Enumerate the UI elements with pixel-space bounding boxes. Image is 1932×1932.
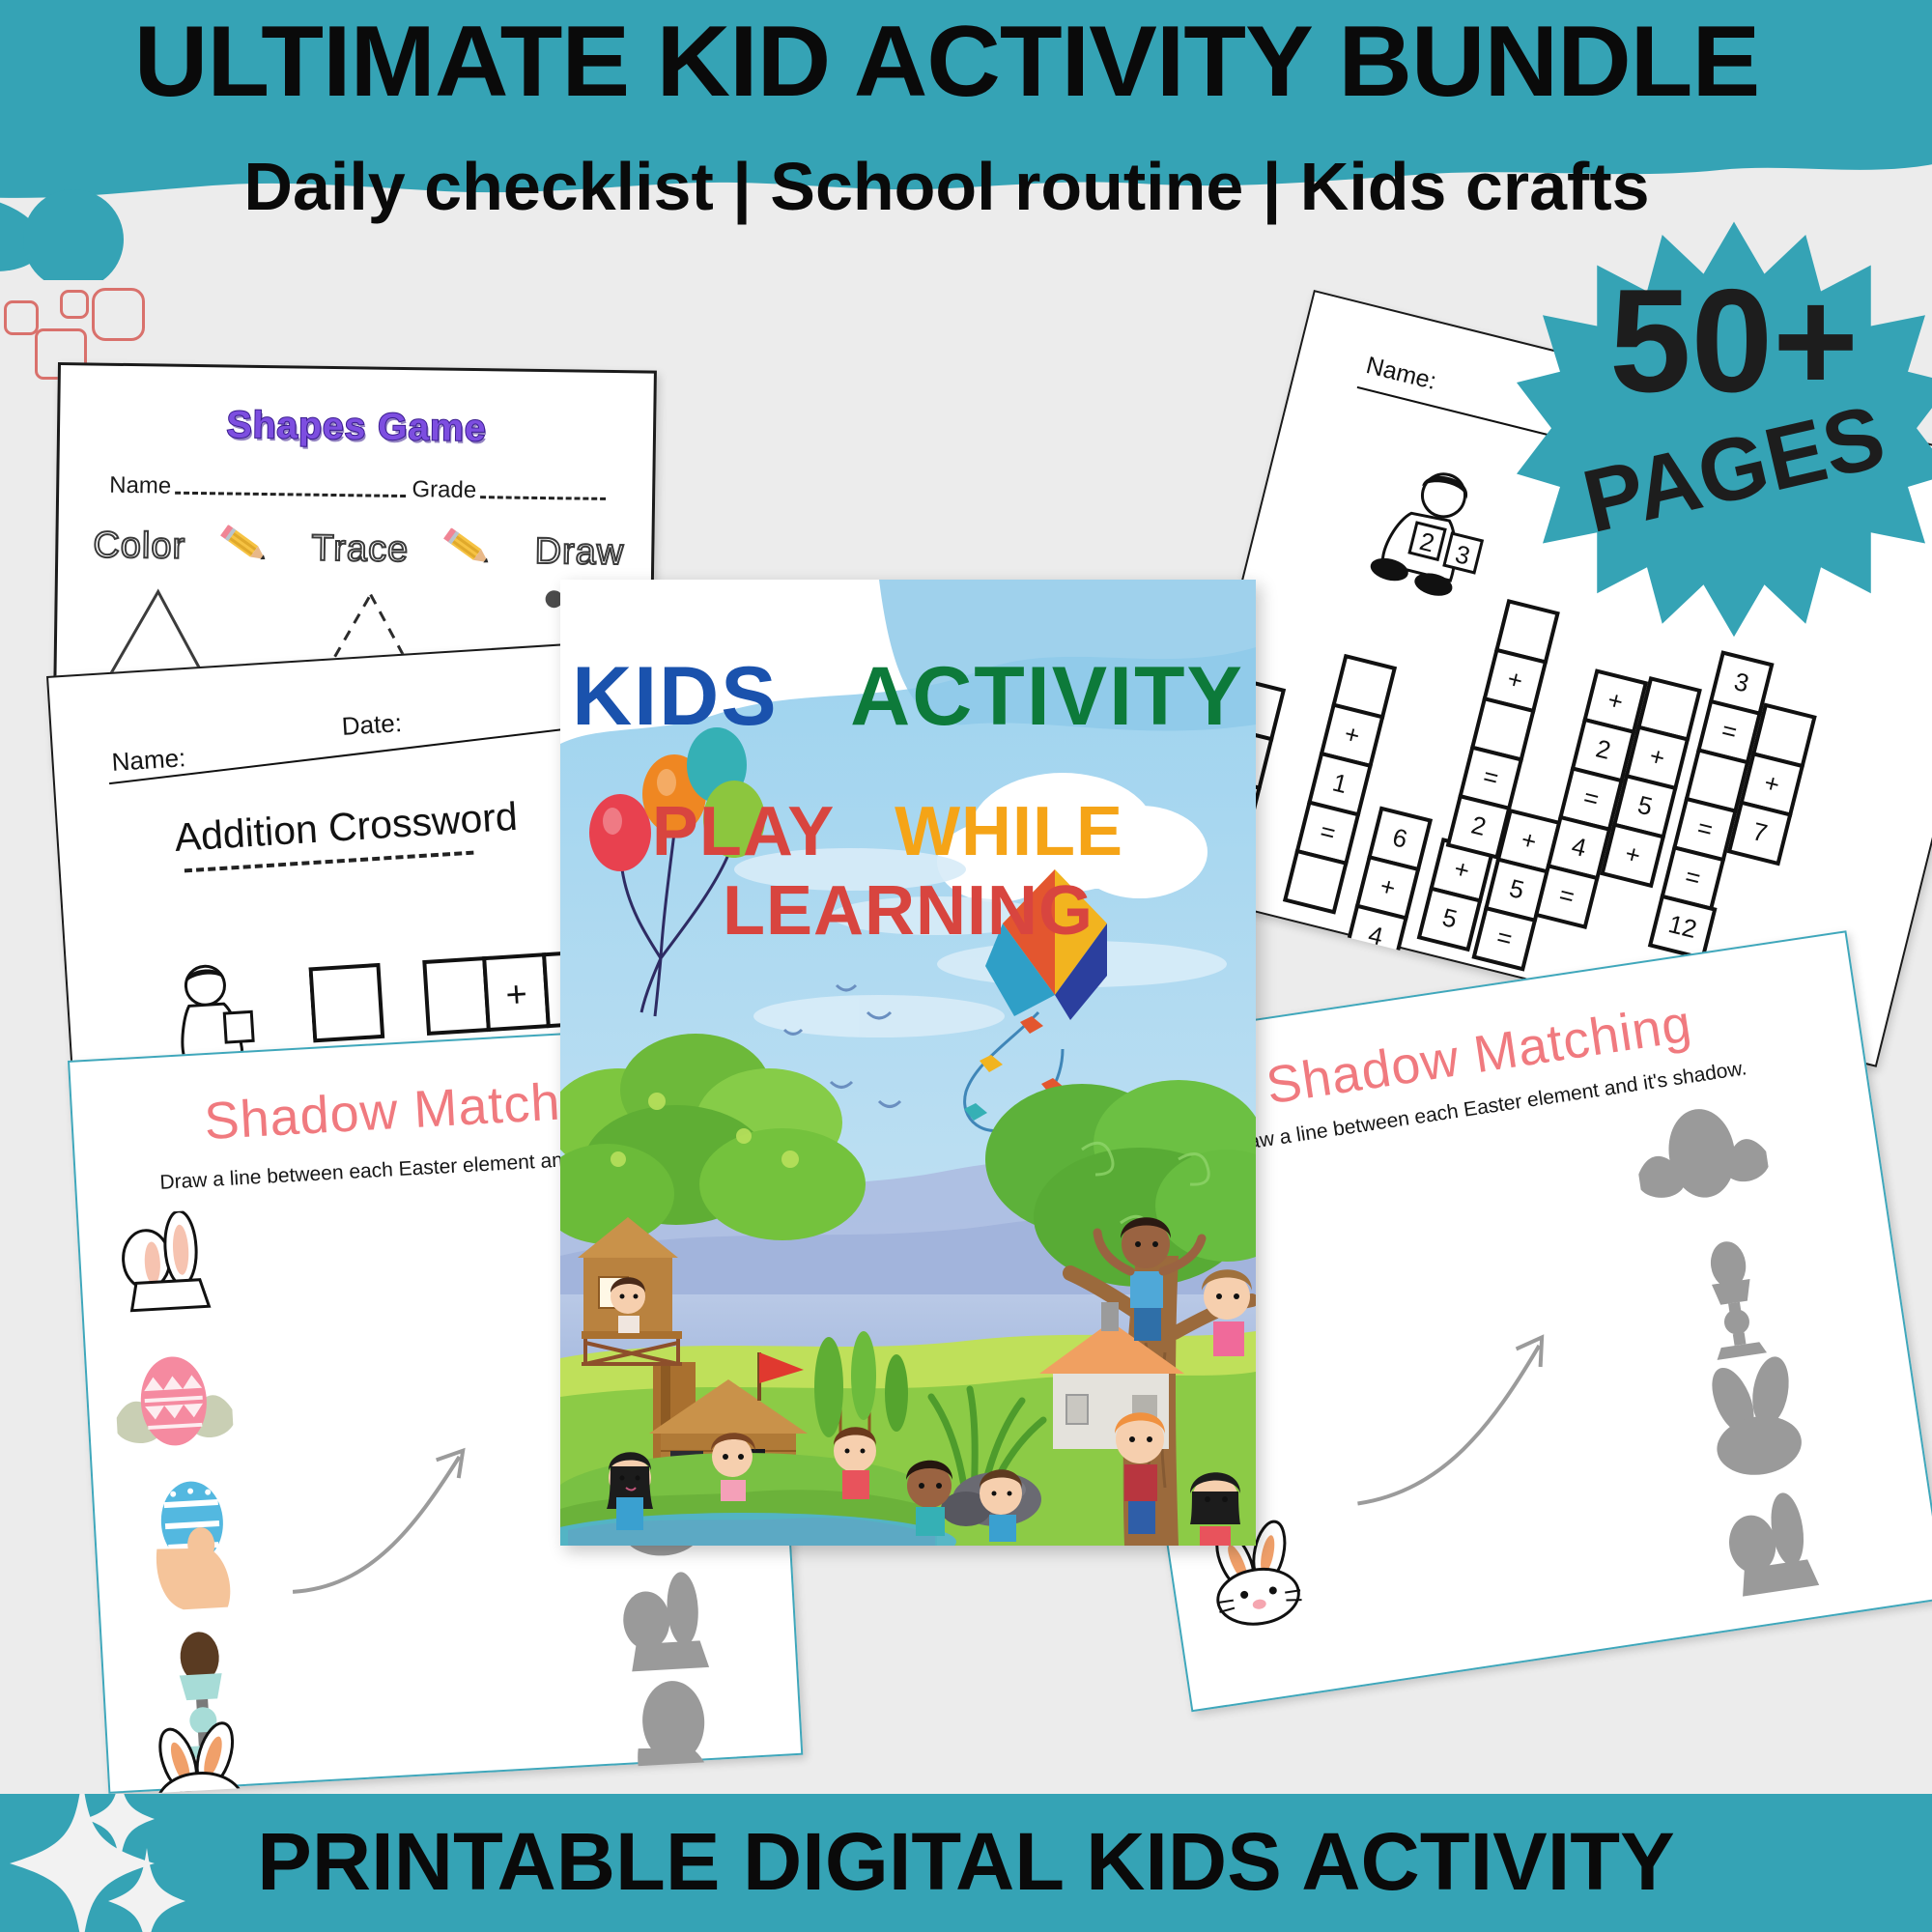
rounded-square-outline-icon [60, 290, 89, 319]
name-label: Name: [1363, 352, 1438, 396]
curved-arrow-head-icon [436, 1451, 465, 1480]
name-grade-row: Name Grade [109, 472, 611, 506]
cover-subtitle: PLAY WHILE LEARNING [560, 792, 1256, 951]
cover-subtitle-while: WHILE [895, 793, 1123, 870]
curved-arrow-head-icon [1515, 1337, 1546, 1370]
pencil-icon [441, 528, 502, 574]
shadow-column [1631, 1100, 1831, 1603]
svg-text:+: + [504, 974, 528, 1015]
bunny-ears-hat-icon [121, 1209, 209, 1311]
hand-holding-blue-egg-icon [152, 1480, 231, 1611]
cover-title-kids: KIDS [572, 650, 778, 743]
footer-title: PRINTABLE DIGITAL KIDS ACTIVITY [0, 1813, 1932, 1910]
curved-arrow-icon [1339, 1346, 1558, 1504]
grade-label: Grade [412, 476, 476, 504]
bunny-ears-hat-shadow-icon [1722, 1490, 1819, 1598]
page-title: ULTIMATE KID ACTIVITY BUNDLE [0, 12, 1932, 112]
grade-blank-line [480, 496, 606, 500]
rounded-square-outline-icon [92, 288, 145, 341]
product-listing-image: ULTIMATE KID ACTIVITY BUNDLE Daily check… [0, 0, 1932, 1932]
name-blank-line [175, 492, 406, 497]
date-label: Date: [341, 708, 403, 742]
cover-title: KIDS ACTIVITY [560, 649, 1256, 745]
name-label: Name: [111, 743, 186, 778]
bunny-face-shadow-icon [1702, 1350, 1810, 1481]
header-subtitle: Daily checklist | School routine | Kids … [0, 153, 1913, 220]
shapes-game-columns: Color Trace [93, 524, 625, 576]
column-label-trace: Trace [311, 527, 409, 570]
rounded-square-outline-icon [4, 300, 39, 335]
pink-easter-egg-with-leaves-icon [113, 1353, 234, 1449]
pages-badge: 50+ PAGES [1517, 217, 1932, 652]
footer-banner: PRINTABLE DIGITAL KIDS ACTIVITY [0, 1794, 1932, 1932]
column-label-draw: Draw [534, 530, 624, 573]
curved-arrow-icon [286, 1457, 467, 1592]
name-label: Name [109, 472, 171, 500]
cover-title-activity: ACTIVITY [850, 650, 1244, 743]
cover-card[interactable]: KIDS ACTIVITY PLAY WHILE LEARNING [560, 580, 1256, 1546]
cover-subtitle-learning: LEARNING [723, 872, 1094, 950]
bunny-ears-hat-shadow-icon [621, 1571, 709, 1672]
pencil-icon [218, 525, 279, 570]
column-label-color: Color [93, 525, 185, 567]
shapes-game-title: Shapes Game [60, 402, 654, 453]
egg-with-leaves-shadow-icon [1631, 1100, 1772, 1207]
egg-in-eggcup-shadow-icon [1700, 1238, 1767, 1360]
cover-subtitle-play: PLAY [652, 793, 834, 870]
